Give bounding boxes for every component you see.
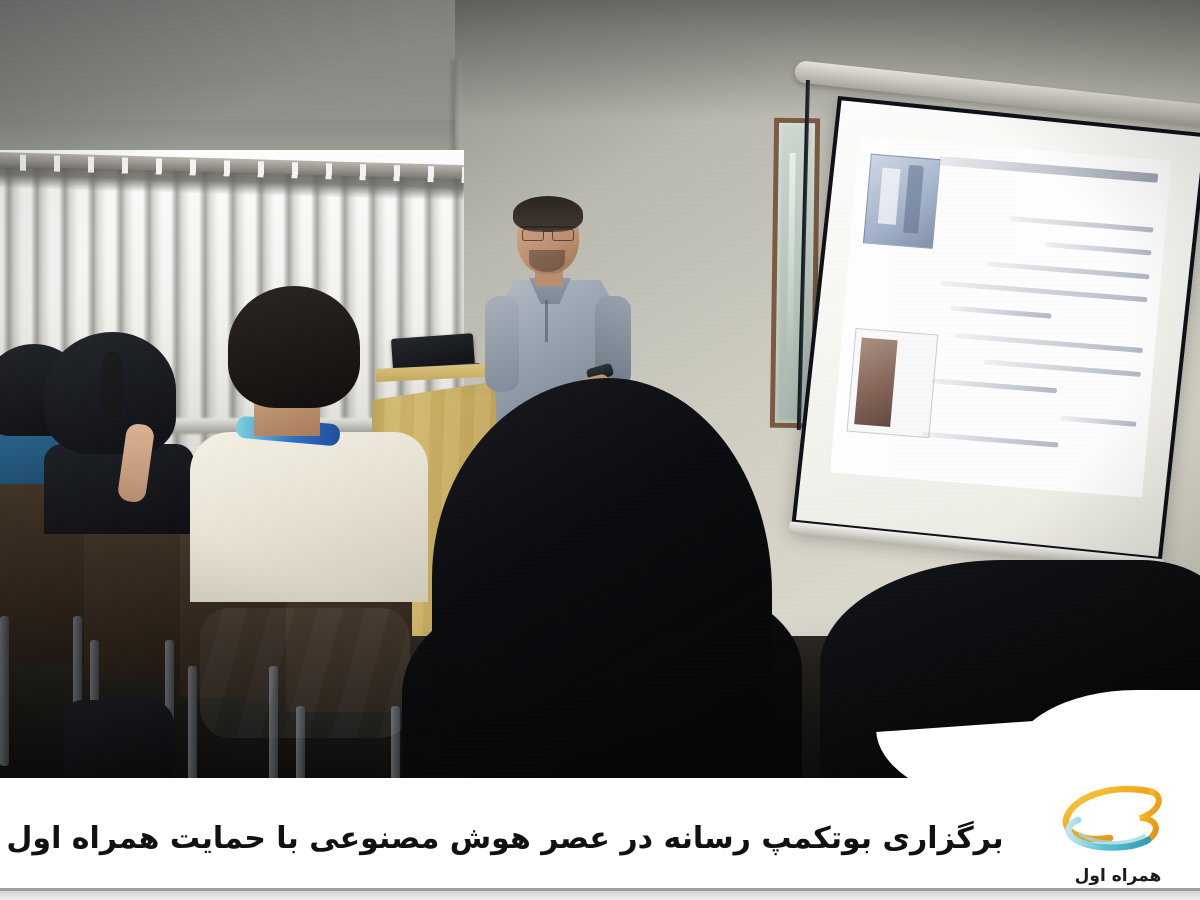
screenshot-root: برگزاری بوتکمپ رسانه در عصر هوش مصنوعی ب… [0, 0, 1200, 900]
chador [432, 378, 772, 778]
bottom-border [0, 888, 1200, 900]
slide-text-line [1010, 215, 1154, 232]
backpack [64, 700, 174, 790]
hamrah-e-aval-logo: همراه اول [1052, 784, 1184, 888]
slide-text-line [984, 359, 1140, 377]
projection-screen [791, 96, 1200, 567]
slide-image-bottom [847, 328, 939, 438]
logo-wordmark: همراه اول [1052, 866, 1184, 886]
audience-hair [228, 286, 360, 408]
slide-text-line [987, 261, 1150, 279]
screen-surface [796, 100, 1200, 556]
slide-text-line [955, 333, 1143, 353]
slide-text-line [951, 305, 1051, 318]
slide-title-line [939, 155, 1158, 182]
shirt-folds [200, 608, 410, 738]
caption-title: برگزاری بوتکمپ رسانه در عصر هوش مصنوعی ب… [0, 790, 1010, 886]
projected-slide [830, 135, 1171, 496]
slide-text-line [941, 281, 1147, 303]
audience-member-foreground [432, 378, 802, 790]
audience-member [198, 286, 418, 586]
chair-leg [188, 666, 197, 790]
slide-text-line [1045, 242, 1152, 256]
slide-text-line [1061, 416, 1136, 427]
slide-image-top [863, 153, 941, 248]
hair-edge [100, 352, 124, 422]
photo-classroom-presentation [0, 0, 1200, 790]
glasses-icon [521, 226, 575, 239]
chair-leg [0, 616, 9, 766]
window-glare [787, 153, 796, 363]
presenter-placket [545, 300, 548, 342]
audience-shirt [190, 432, 428, 602]
slide-text-line [932, 378, 1057, 393]
slide-text-line [922, 431, 1060, 447]
presenter-beard [529, 250, 565, 272]
audience-member [44, 332, 194, 512]
mci-swirl-icon [1052, 784, 1184, 858]
